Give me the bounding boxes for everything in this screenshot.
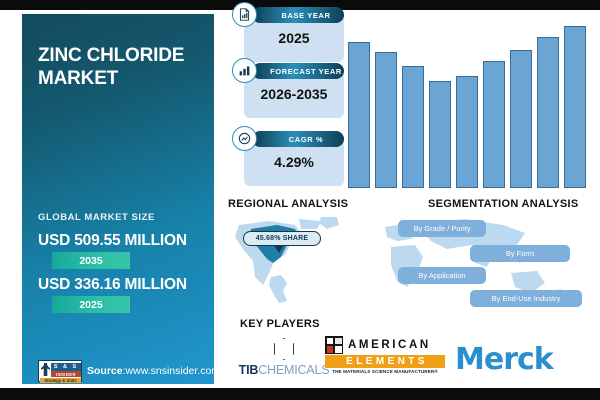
- segment-chip-grade-purity[interactable]: By Grade / Purity: [398, 220, 486, 237]
- left-summary-panel: ZINC CHLORIDE MARKET GLOBAL MARKET SIZE …: [22, 14, 214, 384]
- logo-figure-icon: [41, 363, 50, 376]
- chart-bar: [510, 50, 532, 188]
- kpi-value-cagr: 4.29%: [244, 154, 344, 170]
- tib-chemicals-wordmark: TIBCHEMICALS: [238, 363, 330, 377]
- kpi-value-base-year: 2025: [244, 30, 344, 46]
- kpi-value-forecast-year: 2026-2035: [244, 86, 344, 102]
- source-label: Source: [87, 365, 123, 377]
- chart-bar: [537, 37, 559, 188]
- kpi-card-base-year: BASE YEAR 2025: [244, 14, 344, 62]
- year-badge-2025: 2025: [52, 296, 130, 313]
- chart-bar: [483, 61, 505, 188]
- kpi-label-base-year: BASE YEAR: [252, 7, 344, 23]
- sns-insider-logo-icon: S & S INSIDER Strategy & Stats: [38, 360, 82, 382]
- market-growth-bar-chart: [348, 16, 588, 188]
- regional-analysis-heading: REGIONAL ANALYSIS: [228, 198, 348, 210]
- elements-text: ELEMENTS: [325, 355, 445, 368]
- infographic-canvas: ZINC CHLORIDE MARKET GLOBAL MARKET SIZE …: [0, 0, 600, 400]
- source-text: Source:www.snsinsider.com: [87, 365, 214, 377]
- bar-chart-icon: [232, 58, 257, 83]
- source-row: S & S INSIDER Strategy & Stats Source:ww…: [38, 360, 214, 382]
- market-value-2025: USD 336.16 MILLION: [38, 276, 187, 294]
- chemicals-part: CHEMICALS: [258, 363, 329, 377]
- american-text: AMERICAN: [348, 339, 431, 351]
- segment-chip-application[interactable]: By Application: [398, 267, 486, 284]
- kpi-card-forecast-year: FORECAST YEAR 2026-2035: [244, 70, 344, 118]
- regional-share-badge: 45.68% SHARE: [243, 231, 321, 246]
- key-player-logo-american-elements: AMERICAN ELEMENTS THE MATERIALS SCIENCE …: [325, 336, 445, 374]
- year-badge-2035: 2035: [52, 252, 130, 269]
- chart-bar: [456, 76, 478, 188]
- growth-chart-icon: [232, 126, 257, 151]
- logo-tagline-text: Strategy & Stats: [40, 378, 81, 383]
- logo-insider-text: INSIDER: [51, 371, 81, 377]
- key-player-logo-tib-chemicals: TIBCHEMICALS: [238, 338, 330, 377]
- segment-chip-form[interactable]: By Form: [470, 245, 570, 262]
- american-elements-tagline: THE MATERIALS SCIENCE MANUFACTURER®: [325, 369, 445, 374]
- segment-chip-end-use-industry[interactable]: By End-Use Industry: [470, 290, 582, 307]
- market-value-2035: USD 509.55 MILLION: [38, 232, 187, 250]
- kpi-label-cagr: CAGR %: [252, 131, 344, 147]
- four-square-grid-icon: [325, 336, 343, 354]
- page-title: ZINC CHLORIDE MARKET: [38, 44, 208, 90]
- kpi-label-forecast-year: FORECAST YEAR: [252, 63, 344, 79]
- segmentation-analysis-heading: SEGMENTATION ANALYSIS: [428, 198, 579, 210]
- logo-ss-text: S & S: [51, 363, 81, 371]
- source-url: :www.snsinsider.com: [123, 365, 214, 377]
- chart-bar: [348, 42, 370, 188]
- chart-bar: [564, 26, 586, 188]
- global-market-size-label: GLOBAL MARKET SIZE: [38, 212, 155, 223]
- chart-bar: [402, 66, 424, 188]
- tib-part: TIB: [239, 363, 259, 377]
- document-report-icon: [232, 2, 257, 27]
- key-player-logo-merck: Merck: [455, 342, 553, 377]
- chart-bar: [429, 81, 451, 188]
- hexagon-icon: [274, 338, 294, 360]
- chart-bar: [375, 52, 397, 188]
- american-elements-top-row: AMERICAN: [325, 336, 445, 354]
- key-players-heading: KEY PLAYERS: [240, 318, 320, 330]
- kpi-card-cagr: CAGR % 4.29%: [244, 138, 344, 186]
